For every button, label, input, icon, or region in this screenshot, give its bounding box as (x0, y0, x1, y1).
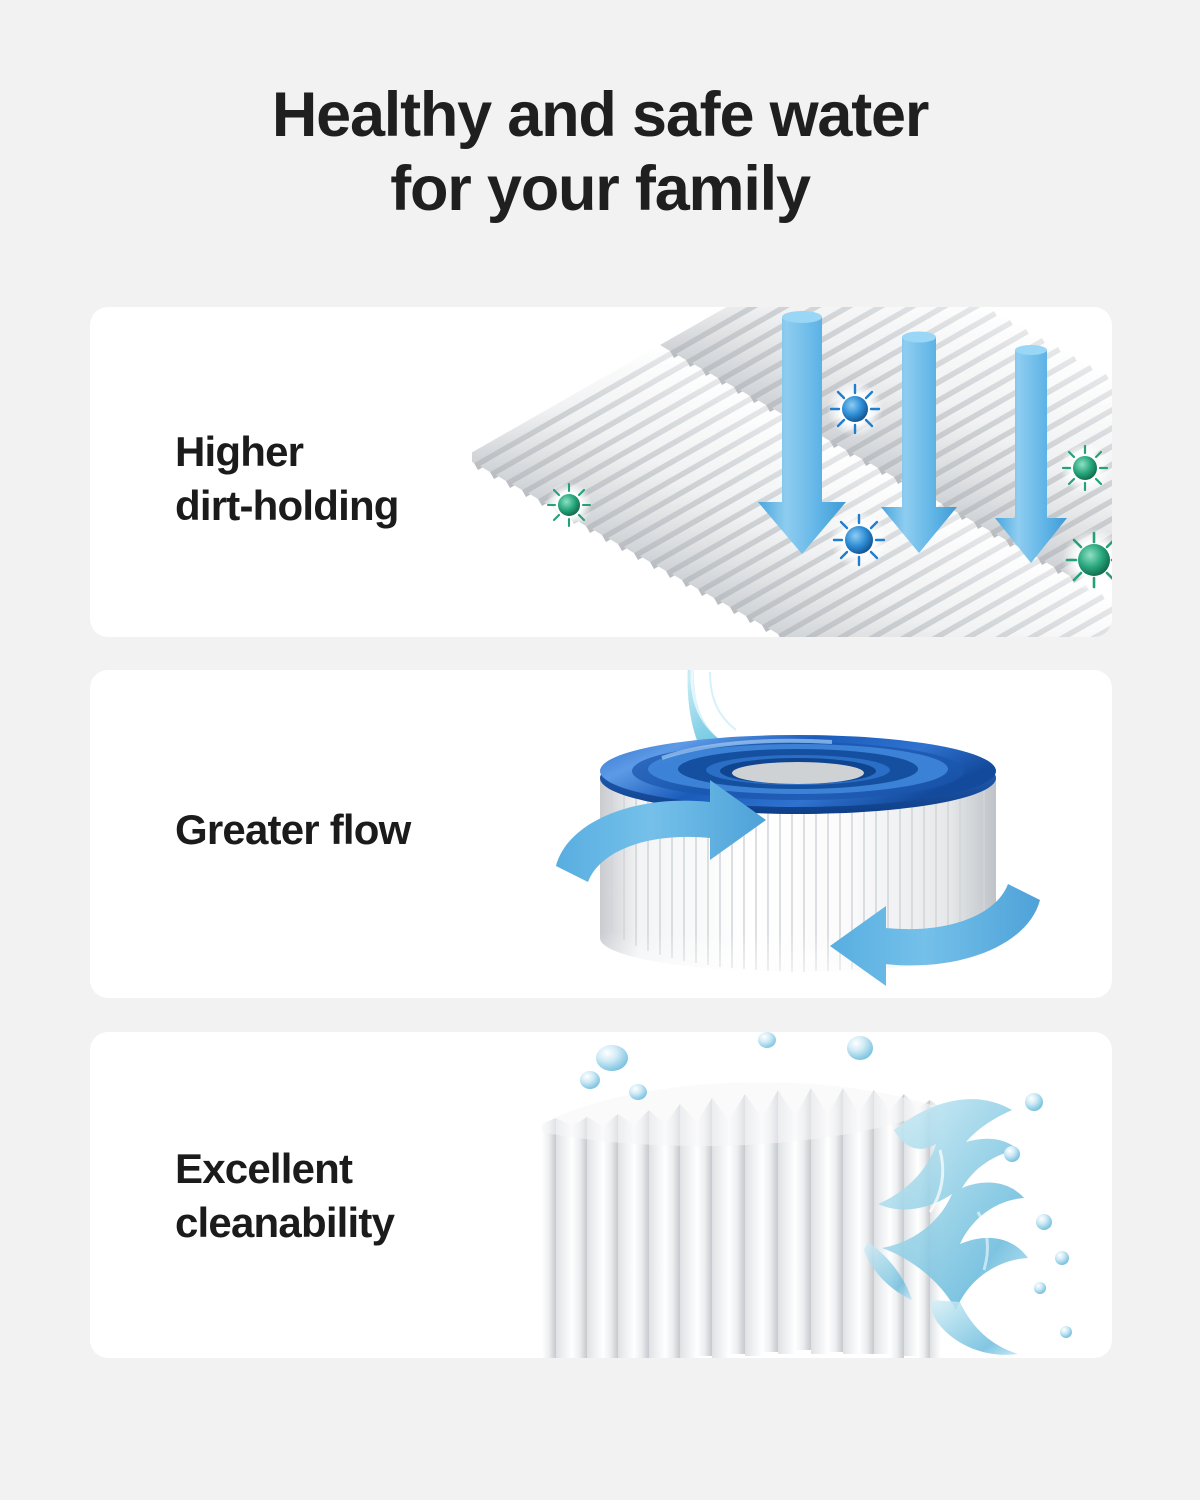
germ-icon-green-2 (1060, 443, 1110, 493)
feature-card-higher-dirt-holding: Higher dirt-holding (90, 307, 1112, 637)
water-droplets (580, 1032, 873, 1100)
pleated-media-block (542, 1082, 941, 1358)
feature-card-greater-flow: Greater flow (90, 670, 1112, 998)
feature-card-label: Higher dirt-holding (175, 425, 399, 533)
germ-icon-blue-2 (830, 511, 888, 569)
down-arrow-3 (995, 345, 1067, 563)
page-title-line-2: for your family (0, 152, 1200, 226)
cartridge-body (600, 778, 996, 998)
water-splash (864, 1093, 1072, 1355)
feature-card-label: Excellent cleanability (175, 1142, 394, 1250)
germ-icon-blue-1 (827, 381, 883, 437)
germ-icon-green-1 (546, 482, 592, 528)
filter-cartridge-illustration (542, 670, 1102, 998)
pleated-media-splash-illustration (542, 1032, 1102, 1358)
page-title: Healthy and safe water for your family (0, 78, 1200, 226)
germ-icon-green-3 (1062, 528, 1112, 592)
water-vortex (688, 670, 790, 800)
down-arrow-2 (881, 332, 957, 554)
pleated-filter-sheet-illustration (472, 307, 1112, 637)
feature-card-label: Greater flow (175, 803, 410, 857)
flow-arrow-right (556, 780, 766, 882)
down-arrow-1 (758, 311, 846, 554)
page-title-line-1: Healthy and safe water (0, 78, 1200, 152)
feature-card-excellent-cleanability: Excellent cleanability (90, 1032, 1112, 1358)
cartridge-cap (600, 735, 996, 814)
flow-arrow-left (830, 884, 1040, 986)
